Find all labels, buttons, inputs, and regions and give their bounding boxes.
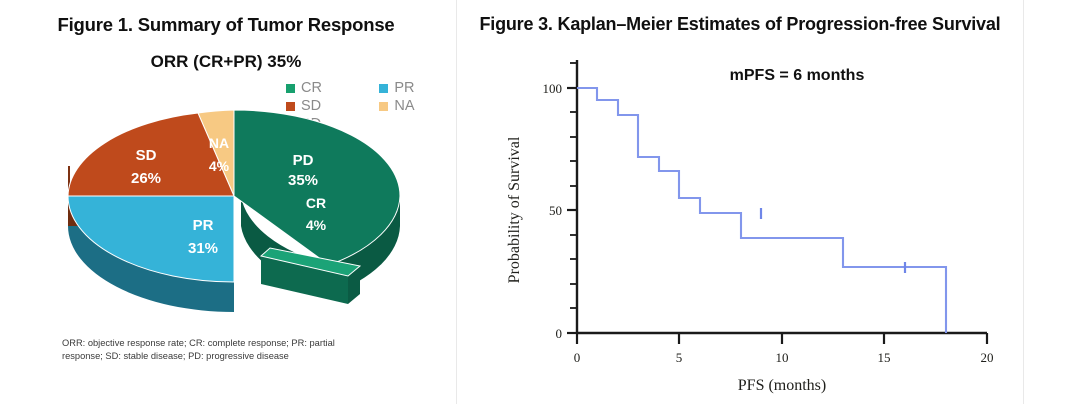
km-ytick-100: 100 — [543, 81, 563, 96]
pie-label-pd-name: PD — [293, 152, 314, 169]
orr-subtitle: ORR (CR+PR) 35% — [0, 52, 452, 72]
km-annotation-mpfs: mPFS = 6 months — [730, 67, 865, 84]
km-xtick-0: 0 — [574, 350, 581, 365]
pie-label-sd-name: SD — [136, 147, 157, 164]
km-yaxis-label: Probability of Survival — [506, 136, 523, 283]
legend-label-pr: PR — [394, 80, 414, 96]
pie-label-pr-value: 31% — [188, 240, 218, 257]
km-xtick-5: 5 — [676, 350, 683, 365]
km-xaxis-label: PFS (months) — [738, 377, 826, 394]
pie-label-pd-value: 35% — [288, 172, 318, 189]
figure1-title: Figure 1. Summary of Tumor Response — [0, 14, 452, 36]
pie-label-na-name: NA — [209, 135, 229, 151]
km-xtick-15: 15 — [878, 350, 891, 365]
legend-label-cr: CR — [301, 80, 322, 96]
km-chart: 100 50 0 0 5 10 15 20 PFS (months) Proba… — [457, 40, 1023, 400]
figure3-panel: Figure 3. Kaplan–Meier Estimates of Prog… — [456, 0, 1024, 404]
km-xtick-20: 20 — [981, 350, 994, 365]
km-ytick-50: 50 — [549, 203, 562, 218]
pie-label-na-value: 4% — [209, 158, 230, 174]
figure3-title: Figure 3. Kaplan–Meier Estimates of Prog… — [457, 14, 1023, 35]
km-ytick-0: 0 — [556, 326, 563, 341]
pie-chart-svg: PD 35% SD 26% NA 4% PR 31% CR 4% — [48, 108, 420, 323]
legend-item-pr: PR — [379, 80, 446, 96]
legend-item-cr: CR — [286, 80, 353, 96]
legend-swatch-pr — [379, 84, 388, 93]
pie-chart: PD 35% SD 26% NA 4% PR 31% CR 4% — [48, 108, 420, 323]
km-chart-svg: 100 50 0 0 5 10 15 20 PFS (months) Proba… — [457, 40, 1023, 400]
km-x-axis — [577, 333, 987, 344]
figure1-footnote: ORR: objective response rate; CR: comple… — [62, 337, 372, 364]
legend-swatch-cr — [286, 84, 295, 93]
km-y-axis — [567, 60, 577, 333]
pie-label-cr-name: CR — [306, 195, 326, 211]
pie-label-cr-value: 4% — [306, 217, 327, 233]
pie-label-pr-name: PR — [193, 217, 214, 234]
pie-label-sd-value: 26% — [131, 170, 161, 187]
km-xtick-10: 10 — [776, 350, 789, 365]
figure1-panel: Figure 1. Summary of Tumor Response ORR … — [0, 0, 452, 404]
